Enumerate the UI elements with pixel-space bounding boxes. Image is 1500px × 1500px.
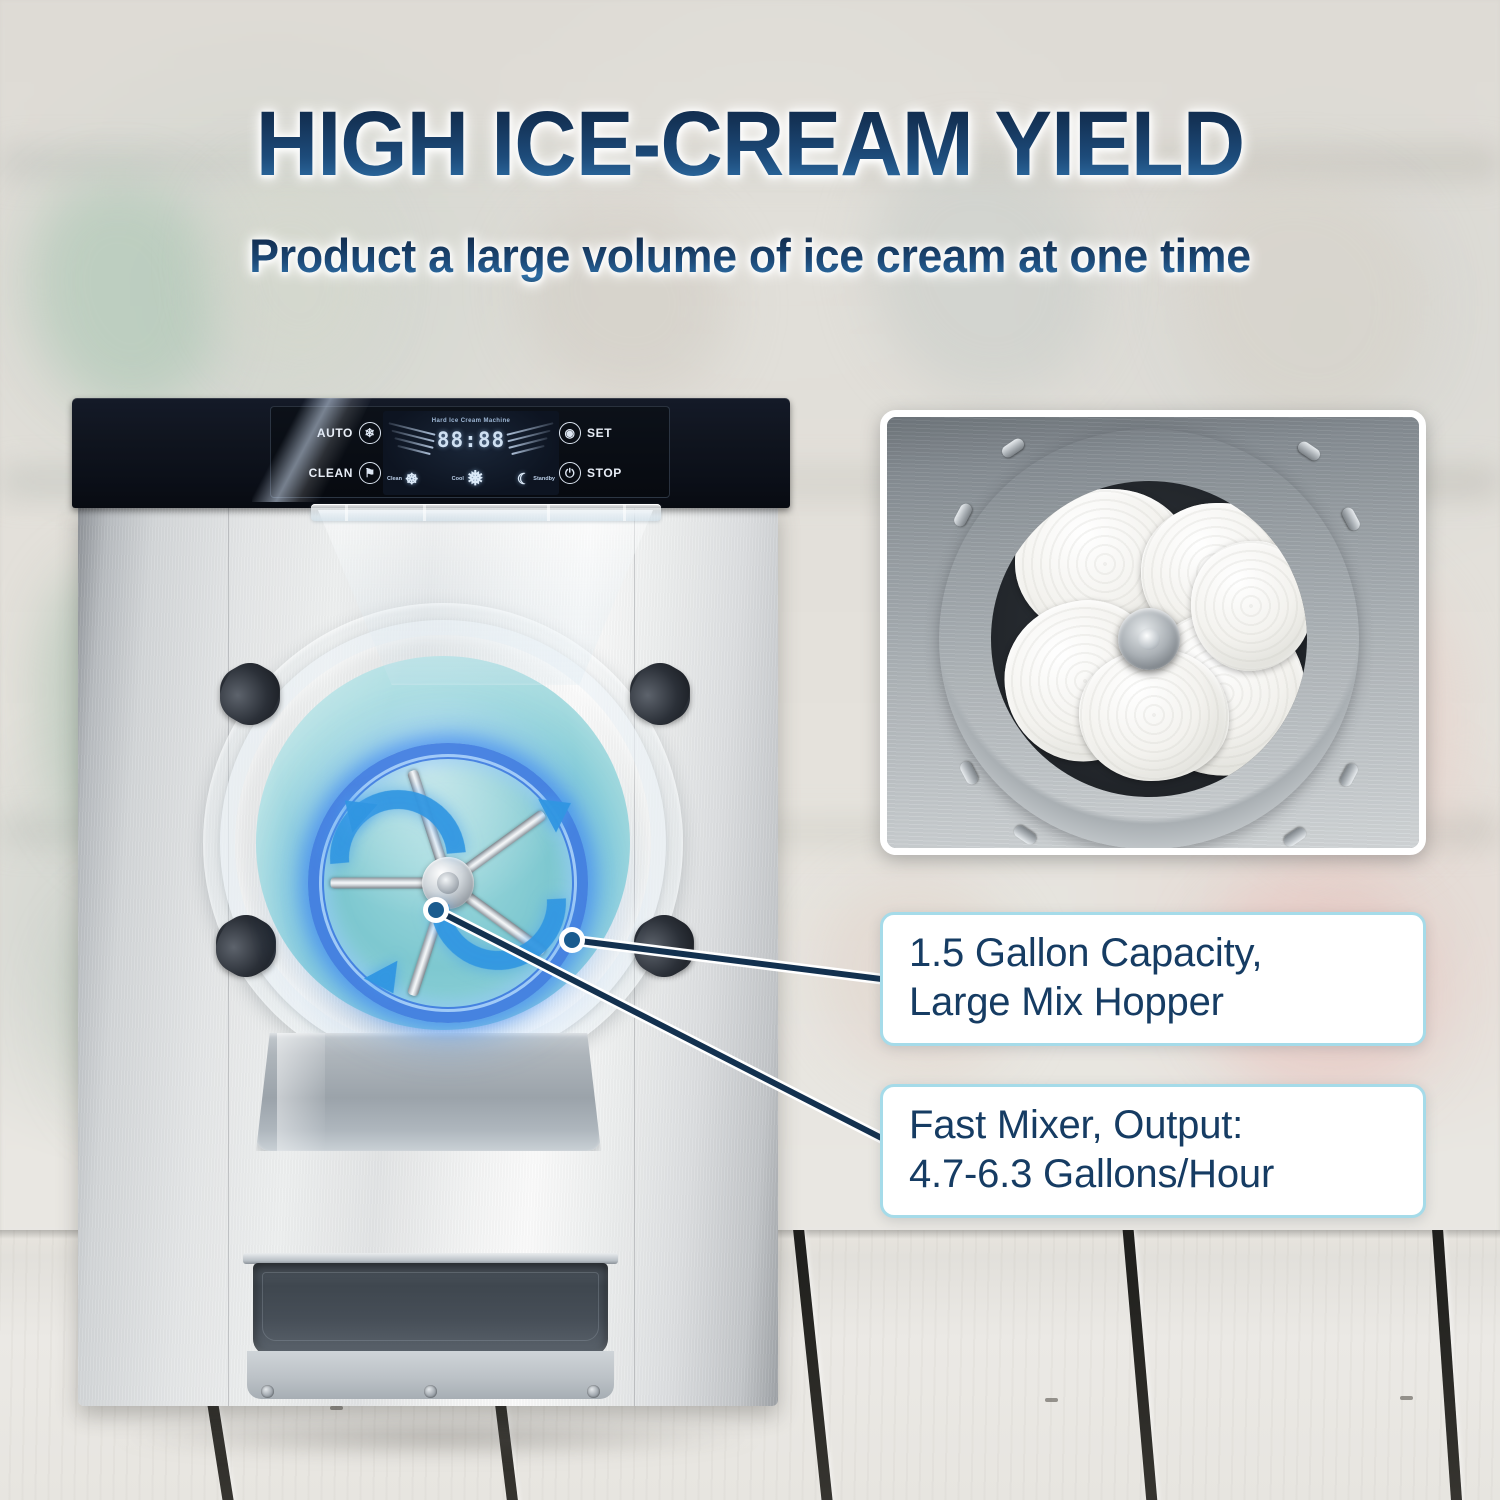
power-icon: ⏻: [559, 462, 581, 484]
tray-screw: [424, 1385, 437, 1398]
splash-shelf: [256, 1033, 601, 1151]
gear-ring-icon: ◉: [559, 422, 581, 444]
tray-screw: [587, 1385, 600, 1398]
lcd-clean-label: Clean: [387, 476, 402, 482]
deck-screw: [1400, 1396, 1413, 1400]
set-button-label: SET: [587, 426, 612, 440]
lcd-brand-text: Hard Ice Cream Machine: [383, 418, 559, 424]
ice-cream-mixing-chamber-photo: [880, 410, 1426, 855]
fan-icon: ☸: [405, 472, 418, 487]
page-subtitle: Product a large volume of ice cream at o…: [38, 228, 1463, 283]
callout-capacity: 1.5 Gallon Capacity, Large Mix Hopper: [880, 912, 1426, 1046]
bowl-knob[interactable]: [216, 918, 276, 974]
control-panel-inner: ❄ AUTO ⚑ CLEAN: [270, 406, 670, 498]
stop-button-label: STOP: [587, 466, 622, 480]
auto-button[interactable]: ❄ AUTO: [317, 422, 381, 444]
set-button[interactable]: ◉ SET: [559, 422, 612, 444]
snowflake-icon: ❄: [359, 422, 381, 444]
callout-capacity-line2: Large Mix Hopper: [909, 978, 1401, 1027]
drip-tray-basin: [253, 1263, 608, 1355]
bowl-knob[interactable]: [630, 666, 690, 722]
auto-button-label: AUTO: [317, 426, 353, 440]
lcd-display: Hard Ice Cream Machine 88:88 Clean ☸ Coo…: [383, 411, 559, 495]
snowflake-icon: ❅: [467, 469, 484, 489]
callout-output-line1: Fast Mixer, Output:: [909, 1101, 1401, 1150]
lcd-status-standby: ☾ Standby: [517, 472, 555, 487]
bowl-knob[interactable]: [634, 918, 694, 974]
machine-shadow: [108, 1417, 768, 1457]
faucet-icon: ⚑: [359, 462, 381, 484]
control-buttons-right: ◉ SET ⏻ STOP: [559, 413, 663, 493]
control-panel: ❄ AUTO ⚑ CLEAN: [72, 398, 790, 508]
stop-button[interactable]: ⏻ STOP: [559, 462, 622, 484]
hopper-lid-bar[interactable]: [311, 504, 661, 521]
control-buttons-left: ❄ AUTO ⚑ CLEAN: [277, 413, 381, 493]
moon-icon: ☾: [517, 472, 530, 487]
bowl-knob[interactable]: [220, 666, 280, 722]
drip-tray[interactable]: [243, 1253, 618, 1403]
callout-output-line2: 4.7-6.3 Gallons/Hour: [909, 1150, 1401, 1199]
lcd-status-cool: Cool ❅: [452, 469, 484, 489]
mixing-chamber: [991, 481, 1307, 797]
chamber-hub: [1118, 608, 1180, 670]
lcd-status-row: Clean ☸ Cool ❅ ☾ Standby: [387, 469, 555, 489]
lcd-cool-label: Cool: [452, 476, 464, 482]
ice-cream-mass: [1191, 541, 1307, 671]
callout-capacity-line1: 1.5 Gallon Capacity,: [909, 929, 1401, 978]
lcd-status-clean: Clean ☸: [387, 472, 418, 487]
clean-button-label: CLEAN: [309, 466, 353, 480]
callout-output: Fast Mixer, Output: 4.7-6.3 Gallons/Hour: [880, 1084, 1426, 1218]
page-title: HIGH ICE-CREAM YIELD: [45, 92, 1455, 197]
deck-screw: [1045, 1398, 1058, 1402]
lcd-standby-label: Standby: [533, 476, 555, 482]
clean-button[interactable]: ⚑ CLEAN: [309, 462, 381, 484]
ice-cream-machine: ❄ AUTO ⚑ CLEAN: [68, 398, 790, 1443]
lcd-digits: 88:88: [383, 428, 559, 452]
tray-screw: [261, 1385, 274, 1398]
